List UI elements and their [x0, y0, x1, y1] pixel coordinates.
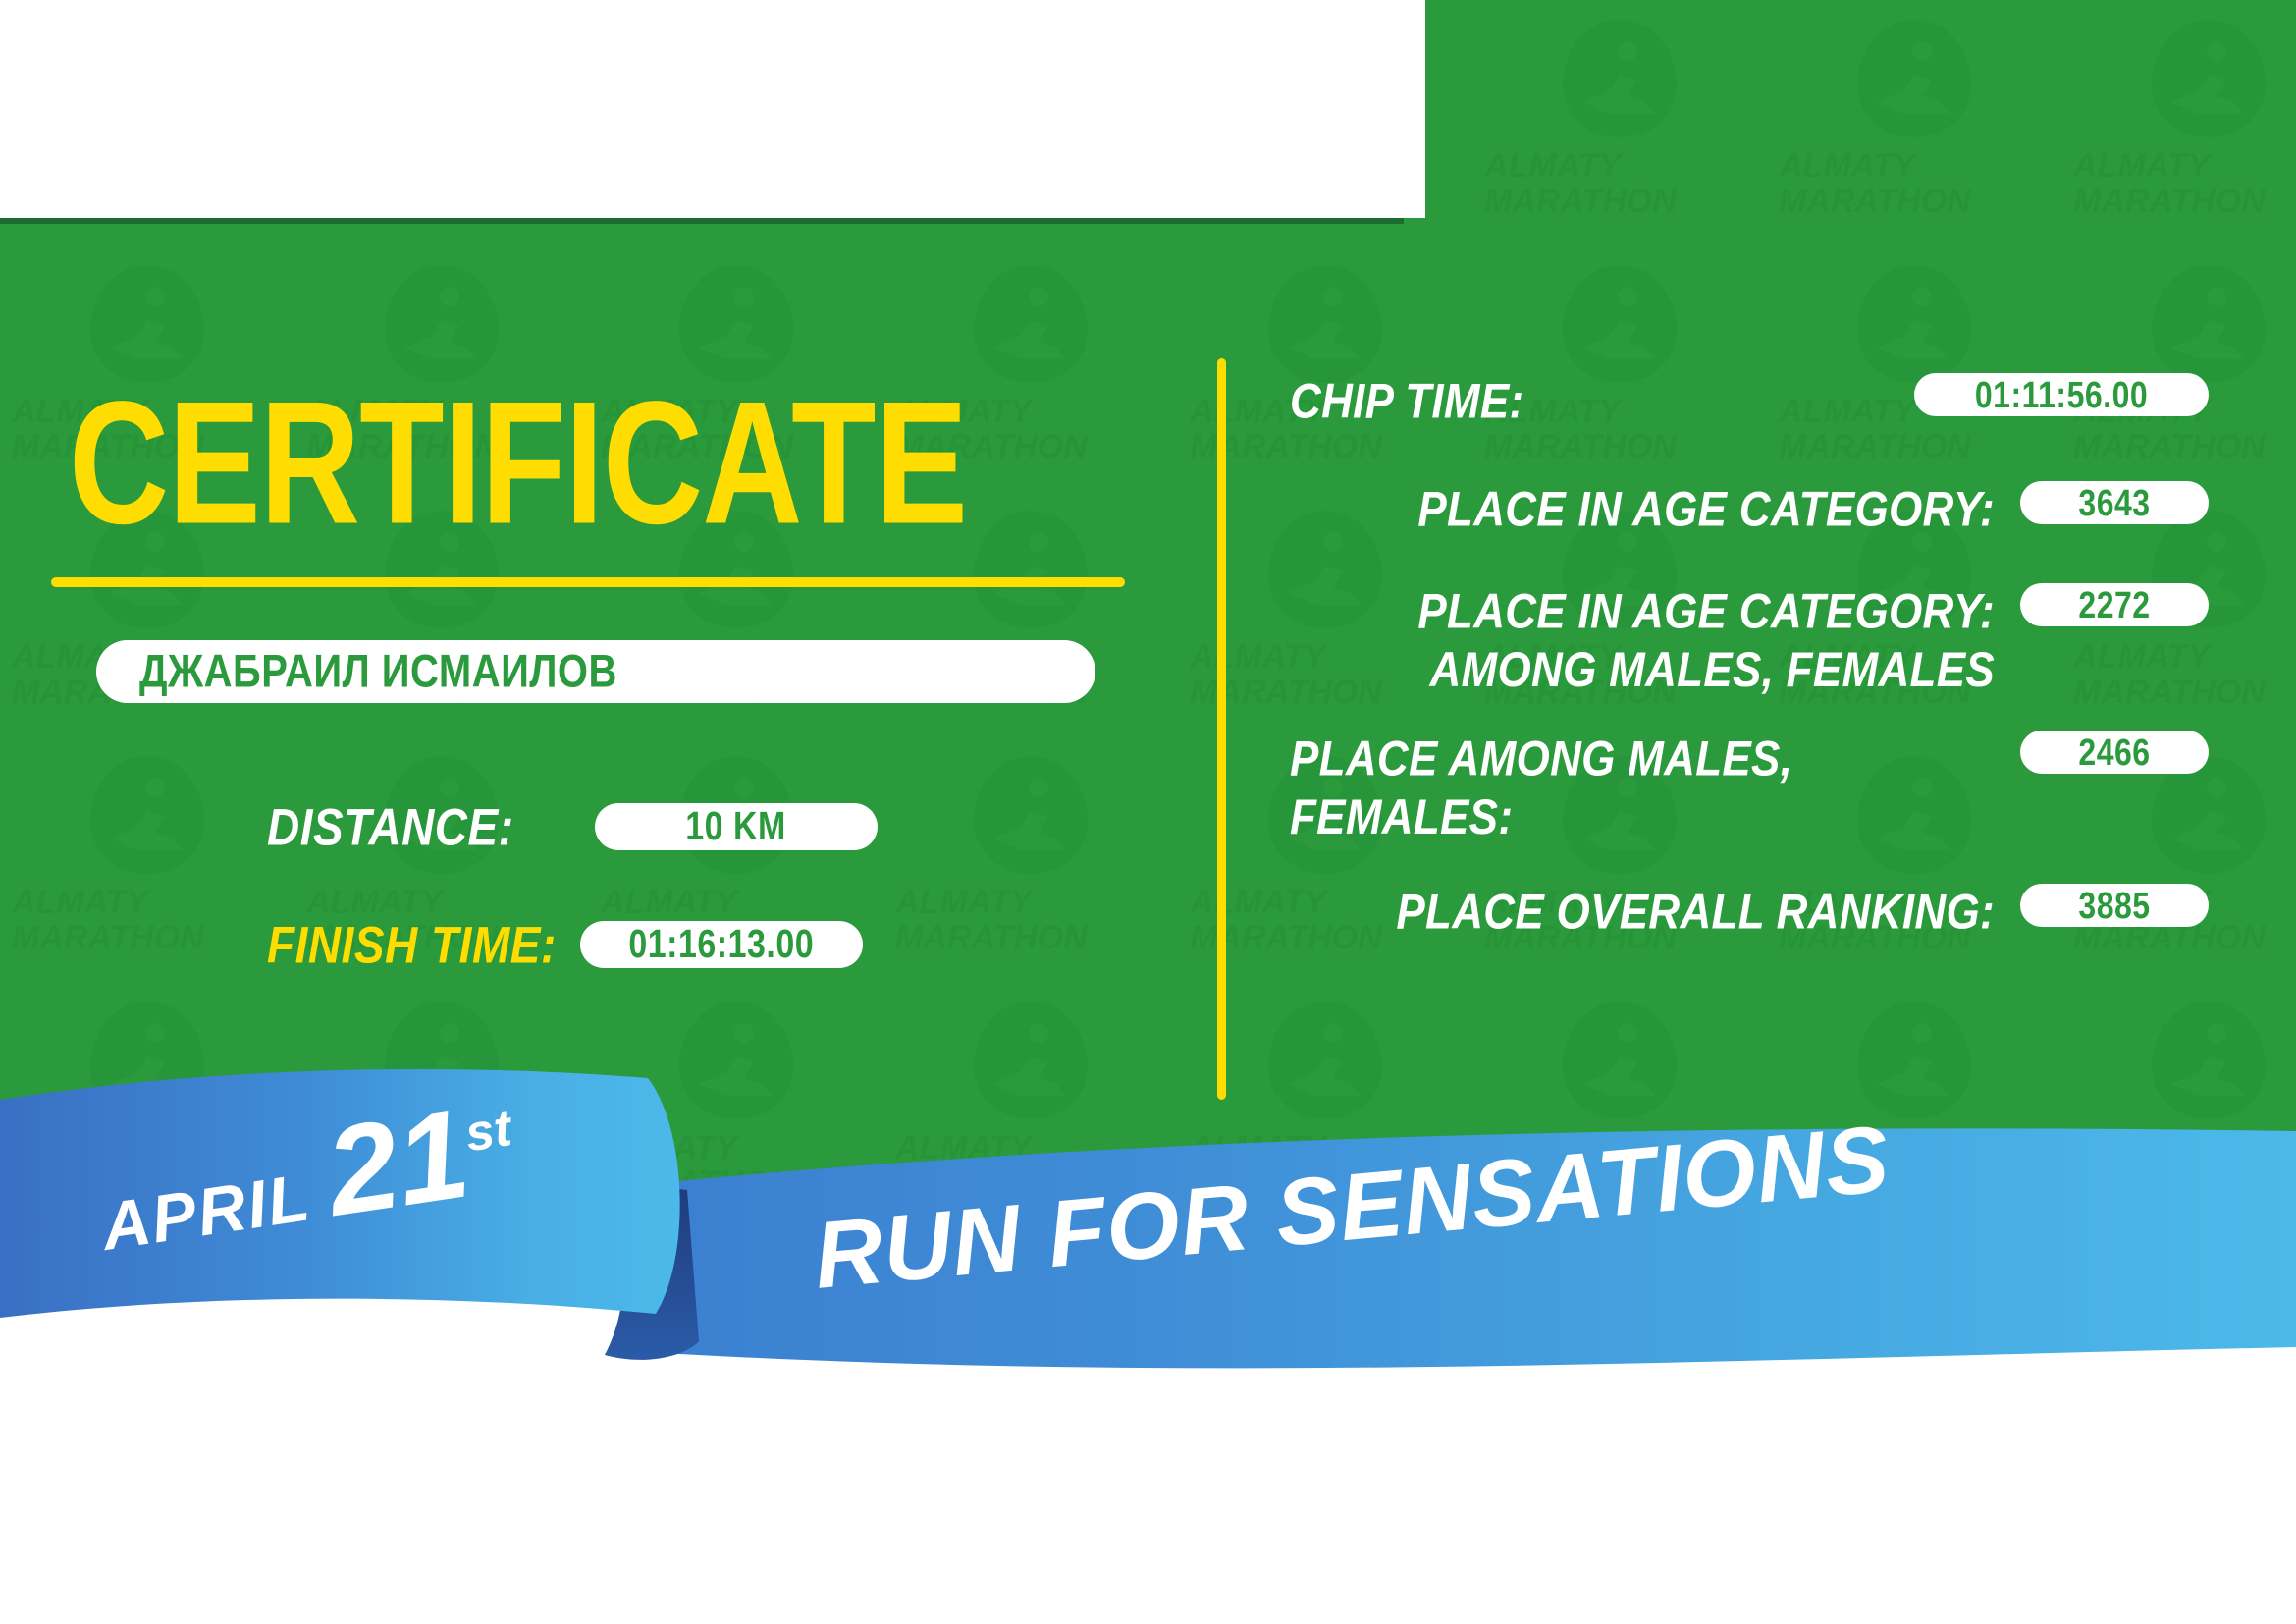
stat-row-chip-time: CHIP TIME: 01:11:56.00: [1276, 373, 2209, 424]
place-age-category-among-gender-value-pill: 2272: [2020, 583, 2209, 626]
place-among-gender-value: 2466: [2078, 731, 2150, 774]
finish-time-label: FINISH TIME:: [267, 914, 557, 975]
vertical-yellow-divider: [1217, 358, 1226, 1100]
certificate-canvas: ALMATY MARATHON ALMATY MARATHON Kaspi.kz…: [0, 0, 2296, 1624]
sponsor-strip: Sulpak SANOFI Empowering Life ORIFLAME S…: [0, 1404, 2296, 1624]
finish-time-value: 01:16:13.00: [628, 922, 814, 968]
place-among-gender-value-pill: 2466: [2020, 731, 2209, 774]
finish-time-row: FINISH TIME: 01:16:13.00: [267, 918, 863, 971]
place-overall-value-pill: 3885: [2020, 884, 2209, 927]
place-overall-value: 3885: [2078, 884, 2150, 927]
distance-row: DISTANCE: 10 KM: [267, 800, 878, 853]
place-age-category-value-pill: 3643: [2020, 481, 2209, 524]
distance-label: DISTANCE:: [267, 796, 514, 857]
results-stats-panel: CHIP TIME: 01:11:56.00 PLACE IN AGE CATE…: [1276, 373, 2209, 980]
stat-row-place-overall: PLACE OVERALL RANKING: 3885: [1276, 884, 2209, 935]
athlete-name-field: ДЖАБРАИЛ ИСМАИЛОВ: [96, 640, 1095, 703]
header-white-panel: [0, 0, 1425, 218]
place-age-category-value: 3643: [2078, 481, 2150, 524]
distance-value: 10 KM: [685, 804, 786, 850]
distance-value-pill: 10 KM: [595, 803, 878, 850]
place-age-category-among-gender-label: PLACE IN AGE CATEGORY:AMONG MALES, FEMAL…: [1276, 583, 1995, 700]
place-overall-label: PLACE OVERALL RANKING:: [1276, 884, 1995, 942]
place-age-category-among-gender-value: 2272: [2078, 583, 2150, 626]
event-day: 21: [321, 1100, 475, 1227]
finish-time-value-pill: 01:16:13.00: [580, 921, 863, 968]
stat-row-place-among-gender: PLACE AMONG MALES,FEMALES: 2466: [1276, 731, 2209, 833]
stat-row-place-age-category-among-gender: PLACE IN AGE CATEGORY:AMONG MALES, FEMAL…: [1276, 583, 2209, 685]
stat-row-place-age-category: PLACE IN AGE CATEGORY: 3643: [1276, 481, 2209, 532]
athlete-name-value: ДЖАБРАИЛ ИСМАИЛОВ: [139, 645, 617, 697]
title-underline-rule: [51, 577, 1125, 587]
chip-time-value-pill: 01:11:56.00: [1914, 373, 2209, 416]
event-day-ordinal: st: [461, 1099, 515, 1164]
place-age-category-label: PLACE IN AGE CATEGORY:: [1276, 481, 1995, 539]
place-among-gender-label: PLACE AMONG MALES,FEMALES:: [1276, 731, 1995, 847]
chip-time-label: CHIP TIME:: [1276, 373, 1708, 431]
chip-time-value: 01:11:56.00: [1975, 373, 2148, 416]
page-title: CERTIFICATE: [69, 373, 967, 553]
